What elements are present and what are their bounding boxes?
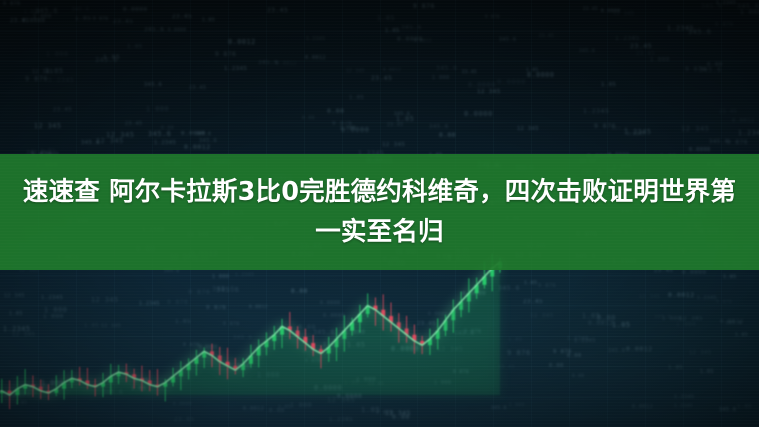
screenshot-root: 12 3450.00009 8761.05345.6345.60.00129 8…	[0, 0, 759, 427]
headline-text: 速速查 阿尔卡拉斯3比0完胜德约科维奇，四次击败证明世界第一实至名归	[14, 172, 745, 252]
headline-banner: 速速查 阿尔卡拉斯3比0完胜德约科维奇，四次击败证明世界第一实至名归	[0, 154, 759, 270]
chart-area-fill	[0, 262, 500, 395]
